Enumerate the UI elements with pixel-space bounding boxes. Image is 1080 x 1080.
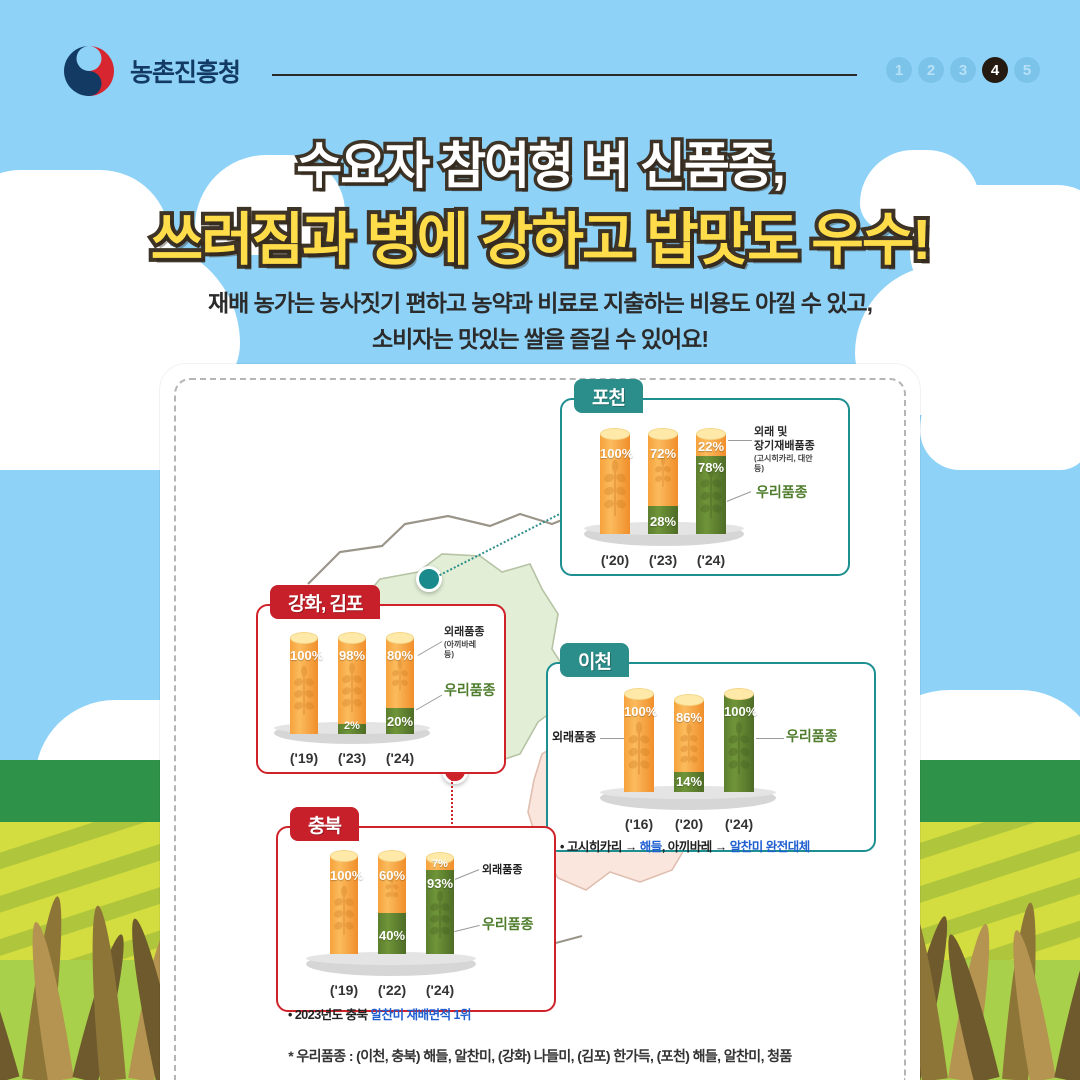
footnote-highlight-2: 알찬미 완전대체: [730, 840, 810, 854]
legend-foreign-pocheon: 외래 및 장기재배품종 (고시히카리, 대안 등): [754, 426, 815, 454]
page-header: 농촌진흥청 1 2 3 4 5: [0, 0, 1080, 118]
xtick-icheon-1: ('20): [664, 816, 714, 832]
xtick-ganghwa-1: ('23): [327, 750, 377, 766]
agency-logo[interactable]: 농촌진흥청: [62, 44, 240, 98]
bar-cap: [624, 688, 654, 700]
xtick-icheon-0: ('16): [614, 816, 664, 832]
leader-line-domestic: [416, 695, 442, 711]
chart-card-pocheon: 포천 100%: [560, 398, 850, 576]
legend-domestic-ganghwa: 우리품종: [444, 682, 496, 700]
bar-value-ganghwa-0-0: 100%: [290, 648, 318, 663]
bar-chungbuk-0: 100%: [330, 856, 358, 954]
bar-pocheon-1: 72% 28%: [648, 434, 678, 534]
bar-pocheon-0: 100%: [600, 434, 630, 534]
bar-value-pocheon-0-0: 100%: [600, 446, 630, 461]
bar-value-pocheon-2-0: 22%: [696, 439, 726, 454]
bar-cap: [330, 850, 358, 862]
rice-ear-icon: [652, 456, 674, 500]
rice-ear-icon: [728, 722, 750, 780]
chart-platform: [306, 952, 476, 976]
xtick-icheon-2: ('24): [714, 816, 764, 832]
marker-pocheon[interactable]: [416, 566, 442, 592]
bar-value-pocheon-1-1: 28%: [648, 514, 678, 529]
legend-foreign-sub: (아끼바레 등): [444, 640, 484, 660]
legend-foreign-line1: 외래 및: [754, 426, 815, 440]
rice-ear-icon: [342, 662, 362, 718]
legend-domestic-icheon: 우리품종: [786, 728, 838, 746]
footer-note: * 우리품종 : (이천, 충북) 해들, 알찬미, (강화) 나들미, (김포…: [0, 1046, 1080, 1066]
page-indicator[interactable]: 1 2 3 4 5: [886, 57, 1040, 83]
taegeuk-icon: [62, 44, 116, 98]
bar-value-chungbuk-0-0: 100%: [330, 868, 358, 883]
bar-cap: [724, 688, 754, 700]
bar-cap: [338, 632, 366, 644]
leader-line-domestic: [756, 738, 784, 739]
rice-ear-icon: [678, 724, 700, 772]
subtitle-line-1: 재배 농가는 농사짓기 편하고 농약과 비료로 지출하는 비용도 아낄 수 있고…: [0, 286, 1080, 322]
leader-line-foreign: [728, 440, 752, 441]
cloud-icon: [920, 360, 1080, 470]
rice-ear-icon: [294, 664, 314, 722]
xtick-chungbuk-1: ('22): [367, 982, 417, 998]
chart-card-chungbuk: 충북 100%: [276, 826, 556, 1012]
bar-value-ganghwa-2-1: 20%: [386, 714, 414, 729]
chart-card-icheon: 이천 100%: [546, 662, 876, 852]
bar-cap: [378, 850, 406, 862]
page-dot-4[interactable]: 4: [982, 57, 1008, 83]
rice-ear-icon: [334, 884, 354, 942]
bar-value-chungbuk-2-0: 7%: [426, 858, 454, 870]
leader-line-foreign: [418, 641, 443, 656]
legend-foreign-ganghwa: 외래품종 (아끼바레 등): [444, 626, 484, 640]
bar-cap: [290, 632, 318, 644]
bar-cap: [386, 632, 414, 644]
bar-plot-pocheon: 100% 72% 28%: [562, 400, 852, 578]
leader-line-foreign: [600, 738, 624, 739]
rice-ear-icon: [628, 722, 650, 780]
legend-foreign-sub: (고시히카리, 대안 등): [754, 454, 815, 474]
bar-plot-ganghwa: 100% 98% 2%: [258, 606, 508, 776]
bar-value-icheon-2-0: 100%: [724, 704, 754, 719]
footnote-highlight-1: 해들: [640, 840, 662, 854]
page-dot-2[interactable]: 2: [918, 57, 944, 83]
title-line-2: 쓰러짐과 병에 강하고 밥맛도 우수!: [0, 194, 1080, 276]
footnote-highlight-1: 알찬미 재배면적 1위: [371, 1008, 471, 1022]
rice-ear-icon: [430, 890, 450, 946]
bar-value-icheon-1-1: 14%: [674, 774, 704, 789]
bar-cap: [648, 428, 678, 440]
page-subtitle: 재배 농가는 농사짓기 편하고 농약과 비료로 지출하는 비용도 아낄 수 있고…: [0, 286, 1080, 357]
bar-pocheon-2: 22% 78%: [696, 434, 726, 534]
leader-line-domestic: [454, 925, 479, 932]
page-dot-5[interactable]: 5: [1014, 57, 1040, 83]
legend-domestic-chungbuk: 우리품종: [482, 916, 534, 934]
xtick-pocheon-2: ('24): [686, 552, 736, 568]
agency-name: 농촌진흥청: [130, 53, 240, 89]
rice-ear-icon: [390, 660, 410, 704]
bar-ganghwa-2: 80% 20%: [386, 638, 414, 734]
bar-value-pocheon-2-1: 78%: [696, 460, 726, 475]
bar-ganghwa-0: 100%: [290, 638, 318, 734]
bar-cap: [600, 428, 630, 440]
footnote-chungbuk: • 2023년도 충북 알찬미 재배면적 1위: [288, 1004, 471, 1023]
bar-value-ganghwa-1-1: 2%: [338, 720, 366, 732]
bar-value-chungbuk-1-0: 60%: [378, 868, 406, 883]
leader-line-foreign: [455, 869, 479, 880]
bar-icheon-1: 86% 14%: [674, 700, 704, 792]
title-line-1: 수요자 참여형 벼 신품종,: [0, 126, 1080, 198]
xtick-ganghwa-2: ('24): [375, 750, 425, 766]
page-title: 수요자 참여형 벼 신품종, 쓰러짐과 병에 강하고 밥맛도 우수!: [0, 126, 1080, 276]
bar-value-icheon-0-0: 100%: [624, 704, 654, 719]
page-dot-3[interactable]: 3: [950, 57, 976, 83]
legend-foreign-line1: 외래품종: [444, 626, 484, 640]
bar-chungbuk-2: 7% 93%: [426, 858, 454, 954]
footnote-mid: , 아끼바레 →: [662, 840, 730, 854]
content-panel: 포천 100%: [160, 364, 920, 1080]
xtick-pocheon-0: ('20): [590, 552, 640, 568]
bar-plot-icheon: 100% 86% 14%: [548, 664, 878, 854]
bar-value-chungbuk-2-1: 93%: [426, 876, 454, 891]
page-dot-1[interactable]: 1: [886, 57, 912, 83]
chart-card-ganghwa: 강화, 김포 100%: [256, 604, 506, 774]
header-divider: [272, 74, 857, 76]
xtick-chungbuk-2: ('24): [415, 982, 465, 998]
bar-value-pocheon-1-0: 72%: [648, 446, 678, 461]
xtick-pocheon-1: ('23): [638, 552, 688, 568]
legend-foreign-line2: 장기재배품종: [754, 440, 815, 454]
legend-foreign-icheon: 외래품종: [552, 730, 596, 745]
subtitle-line-2: 소비자는 맛있는 쌀을 즐길 수 있어요!: [0, 322, 1080, 358]
xtick-chungbuk-0: ('19): [319, 982, 369, 998]
bar-value-chungbuk-1-1: 40%: [378, 928, 406, 943]
footnote-pre: • 고시히카리 →: [560, 840, 640, 854]
legend-foreign-chungbuk: 외래품종: [482, 864, 522, 878]
bar-icheon-2: 100%: [724, 694, 754, 792]
bar-value-ganghwa-1-0: 98%: [338, 648, 366, 663]
xtick-ganghwa-0: ('19): [279, 750, 329, 766]
leader-line-domestic: [727, 491, 751, 502]
bar-chungbuk-1: 60% 40%: [378, 856, 406, 954]
bar-ganghwa-1: 98% 2%: [338, 638, 366, 734]
bar-cap: [674, 694, 704, 706]
bar-value-ganghwa-2-0: 80%: [386, 648, 414, 663]
footnote-pre: • 2023년도 충북: [288, 1008, 371, 1022]
bar-plot-chungbuk: 100% 60% 40%: [278, 828, 558, 1014]
rice-ear-icon: [604, 460, 626, 520]
footnote-icheon: • 고시히카리 → 해들, 아끼바레 → 알찬미 완전대체: [560, 836, 810, 855]
bar-value-icheon-1-0: 86%: [674, 710, 704, 725]
legend-domestic-pocheon: 우리품종: [756, 484, 808, 502]
bar-icheon-0: 100%: [624, 694, 654, 792]
